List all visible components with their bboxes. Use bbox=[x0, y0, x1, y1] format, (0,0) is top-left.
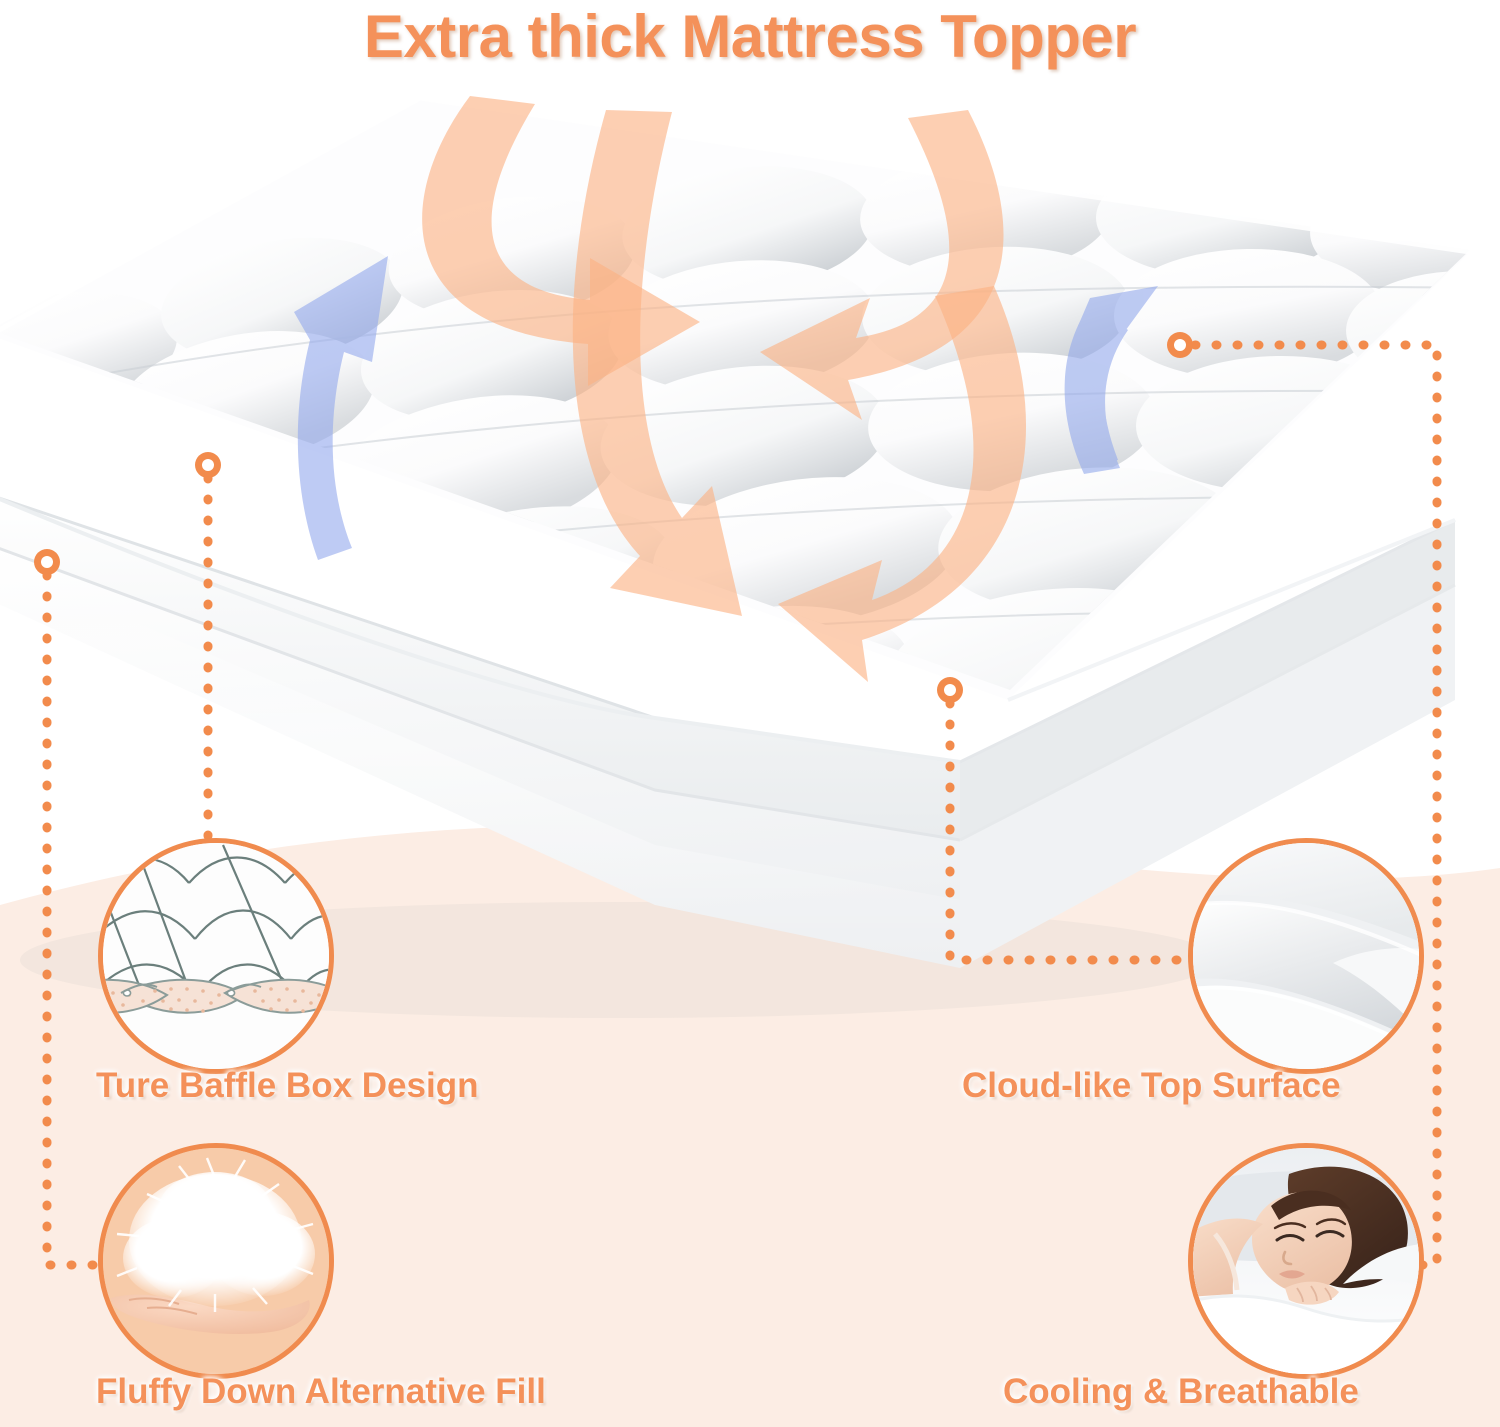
feature-label-cloud: Cloud-like Top Surface bbox=[962, 1066, 1341, 1106]
feature-label-fill: Fluffy Down Alternative Fill bbox=[96, 1372, 546, 1412]
marker-baffle bbox=[195, 452, 221, 478]
marker-fill bbox=[34, 549, 60, 575]
feature-label-baffle: Ture Baffle Box Design bbox=[96, 1066, 478, 1106]
woman-sleeping-on-pillow-icon bbox=[1188, 1143, 1424, 1379]
infographic-stage: Extra thick Mattress Topper bbox=[0, 0, 1500, 1427]
hand-holding-down-fill-icon bbox=[98, 1143, 334, 1379]
page-title: Extra thick Mattress Topper bbox=[0, 2, 1500, 71]
marker-cool bbox=[1167, 332, 1193, 358]
quilted-surface-closeup-icon bbox=[1188, 838, 1424, 1074]
feature-label-cool: Cooling & Breathable bbox=[1003, 1372, 1359, 1412]
baffle-box-cross-section-icon bbox=[98, 838, 334, 1074]
marker-cloud bbox=[937, 677, 963, 703]
